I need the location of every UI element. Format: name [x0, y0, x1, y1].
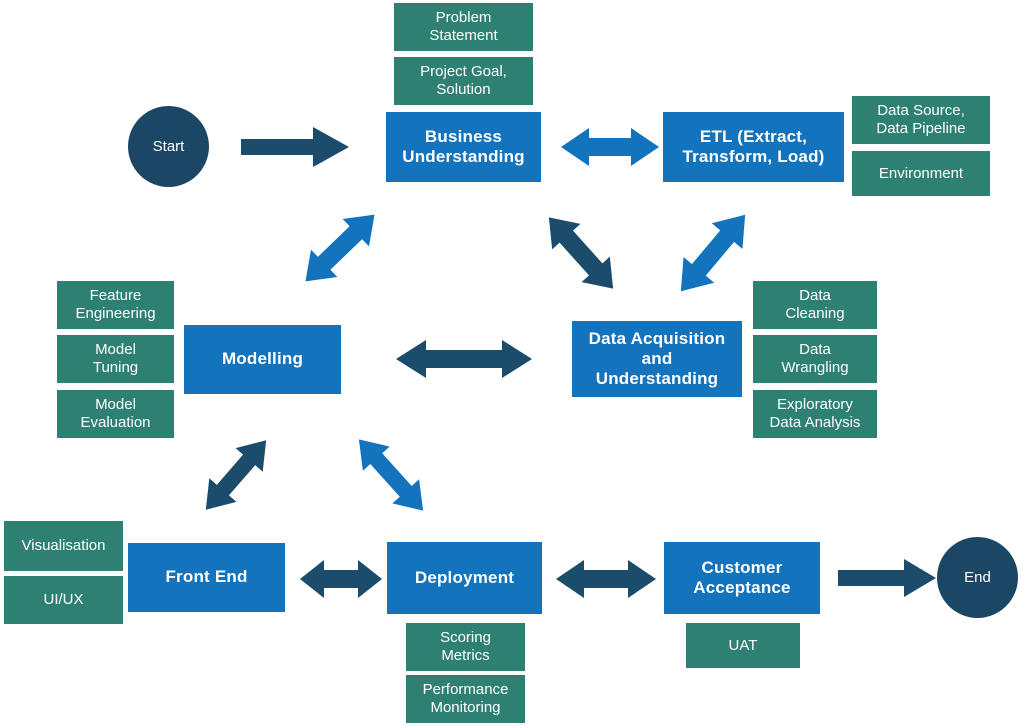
- node-environment[interactable]: Environment: [852, 151, 990, 196]
- flowchart-canvas: Problem Statement Project Goal, Solution…: [0, 0, 1022, 726]
- node-front-end[interactable]: Front End: [128, 543, 285, 612]
- node-data-acquisition[interactable]: Data Acquisition and Understanding: [572, 321, 742, 397]
- node-exploratory-data-analysis[interactable]: Exploratory Data Analysis: [753, 390, 877, 438]
- connector-modelling-to-deployment: [343, 425, 439, 525]
- node-data-source[interactable]: Data Source, Data Pipeline: [852, 96, 990, 144]
- connector-business-understanding-to-etl: [561, 126, 659, 168]
- node-data-cleaning[interactable]: Data Cleaning: [753, 281, 877, 329]
- node-performance-monitoring[interactable]: Performance Monitoring: [406, 675, 525, 723]
- node-model-tuning[interactable]: Model Tuning: [57, 335, 174, 383]
- node-etl[interactable]: ETL (Extract, Transform, Load): [663, 112, 844, 182]
- node-deployment[interactable]: Deployment: [387, 542, 542, 614]
- node-ui-ux[interactable]: UI/UX: [4, 576, 123, 624]
- node-problem-statement[interactable]: Problem Statement: [394, 3, 533, 51]
- node-uat[interactable]: UAT: [686, 623, 800, 668]
- connector-business-understanding-to-modelling: [288, 198, 392, 298]
- node-model-evaluation[interactable]: Model Evaluation: [57, 390, 174, 438]
- connector-start-to-business-understanding: [241, 127, 349, 167]
- connector-deployment-to-customer-acceptance: [556, 558, 656, 600]
- node-visualisation[interactable]: Visualisation: [4, 521, 123, 571]
- connector-modelling-to-data-acquisition: [396, 337, 532, 381]
- node-project-goal[interactable]: Project Goal, Solution: [394, 57, 533, 105]
- node-start[interactable]: Start: [128, 106, 209, 187]
- connector-business-understanding-to-data-acquisition: [533, 198, 629, 308]
- connector-front-end-to-deployment: [300, 558, 382, 600]
- node-customer-acceptance[interactable]: Customer Acceptance: [664, 542, 820, 614]
- node-feature-engineering[interactable]: Feature Engineering: [57, 281, 174, 329]
- node-modelling[interactable]: Modelling: [184, 325, 341, 394]
- node-data-wrangling[interactable]: Data Wrangling: [753, 335, 877, 383]
- connector-customer-acceptance-to-end: [838, 559, 936, 597]
- node-scoring-metrics[interactable]: Scoring Metrics: [406, 623, 525, 671]
- connector-modelling-to-front-end: [190, 425, 282, 525]
- node-end[interactable]: End: [937, 537, 1018, 618]
- connector-etl-to-data-acquisition: [663, 198, 763, 308]
- node-business-understanding[interactable]: Business Understanding: [386, 112, 541, 182]
